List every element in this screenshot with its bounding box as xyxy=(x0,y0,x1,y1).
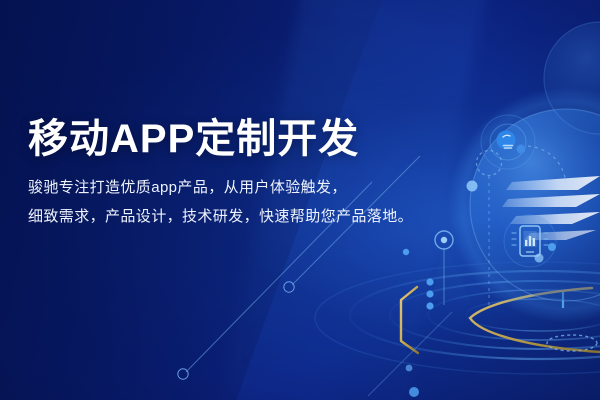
promo-banner: 移动APP定制开发 骏驰专注打造优质app产品，从用户体验触发， 细致需求，产品… xyxy=(0,0,600,400)
banner-subtitle-line-2: 细致需求，产品设计，技术研发，快速帮助您产品落地。 xyxy=(28,205,428,230)
banner-subtitle-line-1: 骏驰专注打造优质app产品，从用户体验触发， xyxy=(28,176,428,201)
page-title: 移动APP定制开发 xyxy=(28,118,428,160)
banner-text-block: 移动APP定制开发 骏驰专注打造优质app产品，从用户体验触发， 细致需求，产品… xyxy=(28,118,428,234)
